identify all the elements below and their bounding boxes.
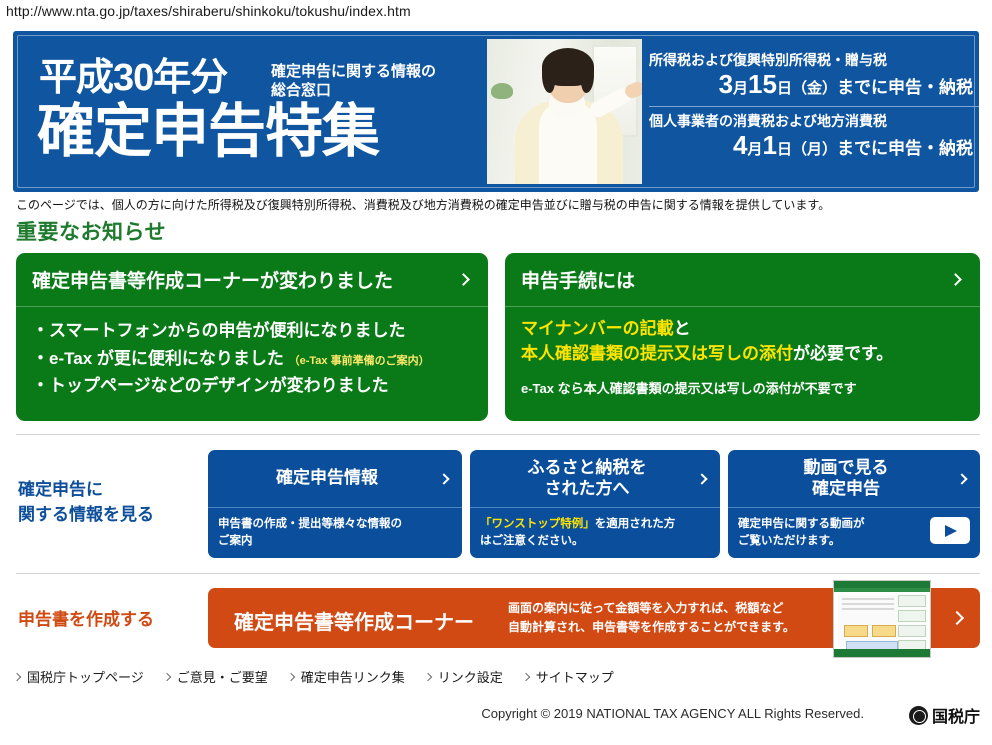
thumbnail-line	[842, 598, 894, 600]
footer-link-feedback[interactable]: ご意見・ご要望	[164, 667, 268, 686]
card-title: 動画で見る 確定申告	[804, 458, 889, 499]
deadline-label: 所得税および復興特別所得税・贈与税	[649, 52, 979, 68]
hero-photo-woman	[487, 39, 642, 184]
bullet-text: ・トップページなどのデザインが変わりました	[32, 376, 389, 395]
footer-link-sitemap[interactable]: サイトマップ	[523, 667, 614, 686]
hero-left-titles: 平成30年分 確定申告に関する情報の 総合窓口 確定申告特集	[31, 41, 481, 181]
nta-logo: 国税庁	[909, 703, 980, 727]
highlight-tail: が必要です。	[793, 344, 893, 363]
notice-panel-header[interactable]: 確定申告書等作成コーナーが変わりました	[16, 253, 488, 307]
play-icon	[945, 525, 957, 537]
card-description: 「ワンストップ特例」を適用された方 はご注意ください。	[470, 508, 720, 549]
card-description: 確定申告に関する動画が ご覧いただけます。	[728, 508, 980, 549]
thumbnail-card	[898, 595, 926, 607]
chevron-right-icon	[956, 473, 967, 484]
page-root: http://www.nta.go.jp/taxes/shiraberu/shi…	[0, 0, 992, 745]
notice-panel-body: ・スマートフォンからの申告が便利になりました ・e-Tax が更に便利になりまし…	[16, 307, 488, 400]
thumbnail-nav-bar	[834, 588, 930, 592]
card-desc-line1: 申告書の作成・提出等様々な情報の	[218, 516, 452, 533]
deadline-row-income-tax: 所得税および復興特別所得税・贈与税 3月15日（金）までに申告・納税	[649, 49, 979, 103]
card-title-line1: 動画で見る	[804, 458, 889, 479]
highlight-line-1: マイナンバーの記載と	[521, 317, 964, 342]
highlight-text: マイナンバーの記載	[521, 319, 674, 338]
deadline-row-consumption-tax: 個人事業者の消費税および地方消費税 4月1日（月）までに申告・納税	[649, 106, 979, 164]
thumbnail-main-column	[838, 595, 898, 646]
hero-year-label: 平成30年分	[39, 59, 227, 97]
highlight-line-2: 本人確認書類の提示又は写しの添付が必要です。	[521, 342, 964, 367]
copyright-text: Copyright © 2019 NATIONAL TAX AGENCY ALL…	[481, 706, 864, 721]
chevron-right-icon	[163, 672, 171, 680]
hero-subtitle-line1: 確定申告に関する情報の	[271, 63, 491, 82]
chevron-right-icon	[457, 273, 470, 286]
deadline-day: 15	[748, 69, 777, 99]
section-heading-important-notice: 重要なお知らせ	[16, 216, 166, 246]
card-title-line1: 確定申告情報	[276, 468, 378, 489]
card-video-tax-return[interactable]: 動画で見る 確定申告 確定申告に関する動画が ご覧いただけます。	[728, 450, 980, 558]
photo-hair-left	[542, 63, 555, 93]
list-item: ・スマートフォンからの申告が便利になりました	[32, 317, 472, 345]
bullet-text: ・e-Tax が更に便利になりました	[32, 349, 284, 368]
hero-deadline-list: 所得税および復興特別所得税・贈与税 3月15日（金）までに申告・納税 個人事業者…	[649, 49, 979, 163]
photo-plant	[491, 83, 513, 99]
deadline-month-unit: 月	[747, 141, 762, 158]
card-desc-highlight: 「ワンストップ特例」	[480, 518, 595, 530]
nta-agency-name: 国税庁	[932, 703, 980, 727]
row-label-line1: 確定申告に	[18, 478, 154, 503]
row-label-view-information: 確定申告に 関する情報を見る	[18, 478, 154, 527]
chevron-right-icon	[438, 473, 449, 484]
deadline-suffix: までに申告・納税	[837, 139, 973, 158]
footer-link-label: リンク設定	[438, 667, 503, 686]
card-header[interactable]: 動画で見る 確定申告	[728, 450, 980, 508]
play-video-button[interactable]	[930, 517, 970, 544]
deadline-weekday: （月）	[792, 141, 837, 158]
nta-emblem-icon	[909, 706, 928, 725]
card-title-line1: ふるさと納税を	[528, 458, 647, 479]
chevron-right-icon	[949, 273, 962, 286]
thumbnail-card	[898, 610, 926, 622]
card-title-line2: 確定申告	[804, 479, 889, 500]
highlight-text: 本人確認書類の提示又は写しの添付	[521, 344, 793, 363]
footer-link-label: サイトマップ	[536, 667, 614, 686]
deadline-day-unit: 日	[777, 141, 792, 158]
row-label-create-return: 申告書を作成する	[18, 608, 154, 633]
thumbnail-line	[842, 603, 894, 605]
footer-link-list: 国税庁トップページ ご意見・ご要望 確定申告リンク集 リンク設定 サイトマップ	[14, 667, 614, 686]
card-header[interactable]: ふるさと納税を された方へ	[470, 450, 720, 508]
deadline-label: 個人事業者の消費税および地方消費税	[649, 113, 979, 129]
deadline-suffix: までに申告・納税	[837, 78, 973, 97]
footer-link-link-policy[interactable]: リンク設定	[425, 667, 503, 686]
url-text[interactable]: http://www.nta.go.jp/taxes/shiraberu/shi…	[6, 3, 411, 19]
chevron-right-icon	[424, 672, 432, 680]
card-description: 申告書の作成・提出等様々な情報の ご案内	[208, 508, 462, 549]
footer-link-links-collection[interactable]: 確定申告リンク集	[288, 667, 405, 686]
banner-desc-line1: 画面の案内に従って金額等を入力すれば、税額など	[508, 599, 795, 618]
deadline-weekday: （金）	[792, 80, 837, 97]
thumbnail-header-bar	[834, 581, 930, 588]
divider	[16, 434, 980, 435]
deadline-month: 4	[733, 130, 747, 160]
card-desc-rest: を適用された方	[595, 518, 676, 530]
notice-panel-filing-procedure[interactable]: 申告手続には マイナンバーの記載と 本人確認書類の提示又は写しの添付が必要です。…	[505, 253, 980, 421]
deadline-month-unit: 月	[733, 80, 748, 97]
card-desc-line1: 「ワンストップ特例」を適用された方	[480, 516, 710, 533]
card-title: 確定申告情報	[276, 468, 378, 489]
thumbnail-footer-bar	[834, 649, 930, 657]
notice-panel-preparation-corner[interactable]: 確定申告書等作成コーナーが変わりました ・スマートフォンからの申告が便利になりま…	[16, 253, 488, 421]
hero-banner[interactable]: 平成30年分 確定申告に関する情報の 総合窓口 確定申告特集 所得	[13, 31, 979, 192]
bullet-text: ・スマートフォンからの申告が便利になりました	[32, 321, 406, 340]
chevron-right-icon	[287, 672, 295, 680]
list-item: ・トップページなどのデザインが変わりました	[32, 372, 472, 400]
thumbnail-line	[842, 608, 894, 610]
notice-panel-header[interactable]: 申告手続には	[505, 253, 980, 307]
deadline-month: 3	[719, 69, 733, 99]
page-description: このページでは、個人の方に向けた所得税及び復興特別所得税、消費税及び地方消費税の…	[16, 196, 830, 213]
footer-link-label: 確定申告リンク集	[301, 667, 405, 686]
banner-title: 確定申告書等作成コーナー	[234, 606, 474, 635]
hero-subtitle: 確定申告に関する情報の 総合窓口	[271, 63, 491, 101]
notice-panel-title: 確定申告書等作成コーナーが変わりました	[32, 266, 459, 293]
chevron-right-icon	[950, 611, 964, 625]
card-title: ふるさと納税を された方へ	[528, 458, 647, 499]
chevron-right-icon	[522, 672, 530, 680]
list-item: ・e-Tax が更に便利になりました （e-Tax 事前準備のご案内）	[32, 345, 472, 373]
hero-main-title: 確定申告特集	[37, 103, 379, 161]
deadline-day-unit: 日	[777, 80, 792, 97]
site-thumbnail-preview	[833, 580, 931, 658]
thumbnail-side-column	[898, 595, 926, 646]
deadline-date: 4月1日（月）までに申告・納税	[649, 129, 979, 162]
card-header[interactable]: 確定申告情報	[208, 450, 462, 508]
card-desc-line2: ご案内	[218, 533, 452, 550]
thumbnail-box	[844, 625, 868, 637]
card-tax-return-information[interactable]: 確定申告情報 申告書の作成・提出等様々な情報の ご案内	[208, 450, 462, 558]
hero-subtitle-line2: 総合窓口	[271, 82, 491, 101]
row-label-line2: 関する情報を見る	[18, 503, 154, 528]
divider	[16, 573, 980, 574]
deadline-date: 3月15日（金）までに申告・納税	[649, 68, 979, 101]
highlight-tail: と	[674, 319, 691, 338]
thumbnail-card	[898, 625, 926, 637]
notice-panel-title: 申告手続には	[521, 266, 951, 293]
bullet-note[interactable]: （e-Tax 事前準備のご案内）	[289, 355, 430, 367]
thumbnail-box	[872, 625, 896, 637]
chevron-right-icon	[13, 672, 21, 680]
notice-panel-footnote: e-Tax なら本人確認書類の提示又は写しの添付が不要です	[521, 378, 964, 397]
banner-description: 画面の案内に従って金額等を入力すれば、税額など 自動計算され、申告書等を作成する…	[508, 599, 795, 636]
chevron-right-icon	[696, 473, 707, 484]
notice-panel-body: マイナンバーの記載と 本人確認書類の提示又は写しの添付が必要です。 e-Tax …	[505, 307, 980, 397]
card-furusato-nozei[interactable]: ふるさと納税を された方へ 「ワンストップ特例」を適用された方 はご注意ください…	[470, 450, 720, 558]
deadline-day: 1	[763, 130, 777, 160]
card-title-line2: された方へ	[528, 479, 647, 500]
footer-link-nta-top[interactable]: 国税庁トップページ	[14, 667, 144, 686]
card-desc-line2: はご注意ください。	[480, 533, 710, 550]
banner-desc-line2: 自動計算され、申告書等を作成することができます。	[508, 618, 795, 637]
footer-link-label: 国税庁トップページ	[27, 667, 144, 686]
footer-link-label: ご意見・ご要望	[177, 667, 268, 686]
